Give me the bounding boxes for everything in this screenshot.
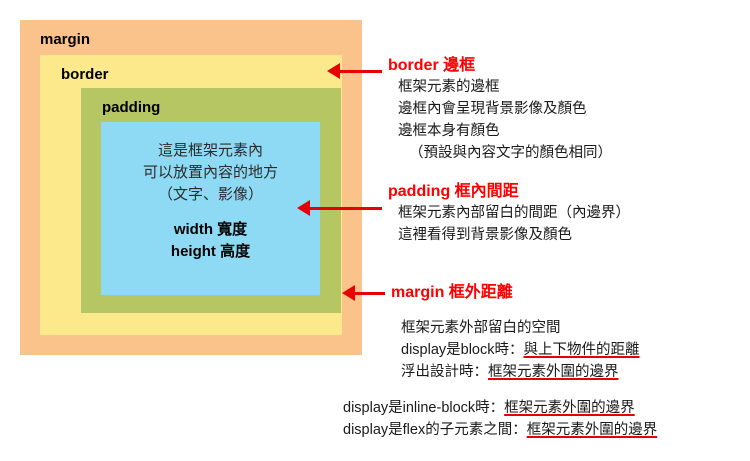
border-annotation-line-1: 框架元素的邊框 bbox=[398, 76, 612, 98]
margin-layer-label: margin bbox=[40, 32, 90, 47]
annotation-block-padding: padding 框內間距 框架元素內部留白的間距（內邊界） 這裡看得到背景影像及… bbox=[388, 182, 630, 246]
margin-block-underlined: 與上下物件的距離 bbox=[524, 342, 640, 358]
margin-annotation-line-float: 浮出設計時：框架元素外圍的邊界 bbox=[401, 361, 640, 383]
margin-float-prefix: 浮出設計時： bbox=[401, 364, 488, 380]
box-model-diagram: margin border padding 這是框架元素內 可以放置內容的地方 … bbox=[20, 20, 362, 355]
padding-annotation-line-2: 這裡看得到背景影像及顏色 bbox=[398, 224, 630, 246]
content-width-label: width 寬度 bbox=[174, 219, 247, 241]
border-annotation-line-2: 邊框內會呈現背景影像及顏色 bbox=[398, 98, 612, 120]
content-text-line-2: 可以放置內容的地方 bbox=[143, 162, 278, 184]
padding-annotation-line-1: 框架元素內部留白的間距（內邊界） bbox=[398, 202, 630, 224]
content-layer: 這是框架元素內 可以放置內容的地方 （文字、影像） width 寬度 heigh… bbox=[101, 122, 320, 295]
border-layer-label: border bbox=[61, 67, 109, 82]
border-annotation-line-4: （預設與內容文字的顏色相同） bbox=[398, 142, 612, 164]
margin-annotation-line-block: display是block時：與上下物件的距離 bbox=[401, 339, 640, 361]
flex-prefix: display是flex的子元素之間： bbox=[343, 422, 527, 438]
margin-annotation-body: 框架元素外部留白的空間 display是block時：與上下物件的距離 浮出設計… bbox=[401, 317, 640, 383]
border-arrow-line bbox=[340, 70, 382, 73]
annotation-block-border: border 邊框 框架元素的邊框 邊框內會呈現背景影像及顏色 邊框本身有顏色 … bbox=[388, 56, 612, 164]
margin-annotation-heading: margin 框外距離 bbox=[391, 283, 640, 303]
content-text-line-3: （文字、影像） bbox=[158, 184, 263, 206]
border-annotation-body: 框架元素的邊框 邊框內會呈現背景影像及顏色 邊框本身有顏色 （預設與內容文字的顏… bbox=[398, 76, 612, 164]
content-height-label: height 高度 bbox=[171, 241, 250, 263]
border-arrow-head-icon bbox=[327, 63, 340, 79]
extra-annotation-flex: display是flex的子元素之間：框架元素外圍的邊界 bbox=[343, 419, 657, 441]
margin-block-prefix: display是block時： bbox=[401, 342, 524, 358]
border-annotation-line-3: 邊框本身有顏色 bbox=[398, 120, 612, 142]
padding-arrow-line bbox=[310, 207, 382, 210]
margin-annotation-line-1: 框架元素外部留白的空間 bbox=[401, 317, 640, 339]
inline-block-prefix: display是inline-block時： bbox=[343, 400, 504, 416]
content-text-line-1: 這是框架元素內 bbox=[158, 140, 263, 162]
annotation-block-extra: display是inline-block時：框架元素外圍的邊界 display是… bbox=[343, 397, 657, 442]
annotation-block-margin: margin 框外距離 框架元素外部留白的空間 display是block時：與… bbox=[391, 283, 640, 383]
border-layer: border padding 這是框架元素內 可以放置內容的地方 （文字、影像）… bbox=[40, 55, 342, 335]
extra-annotation-inline-block: display是inline-block時：框架元素外圍的邊界 bbox=[343, 397, 657, 419]
padding-annotation-heading: padding 框內間距 bbox=[388, 182, 630, 202]
margin-layer: margin border padding 這是框架元素內 可以放置內容的地方 … bbox=[20, 20, 362, 355]
margin-float-underlined: 框架元素外圍的邊界 bbox=[488, 364, 619, 380]
padding-arrow-head-icon bbox=[297, 200, 310, 216]
border-annotation-heading: border 邊框 bbox=[388, 56, 612, 76]
margin-arrow-line bbox=[355, 292, 385, 295]
margin-arrow-head-icon bbox=[342, 285, 355, 301]
flex-underlined: 框架元素外圍的邊界 bbox=[527, 422, 658, 438]
padding-annotation-body: 框架元素內部留白的間距（內邊界） 這裡看得到背景影像及顏色 bbox=[398, 202, 630, 246]
inline-block-underlined: 框架元素外圍的邊界 bbox=[504, 400, 635, 416]
padding-layer-label: padding bbox=[102, 100, 160, 115]
